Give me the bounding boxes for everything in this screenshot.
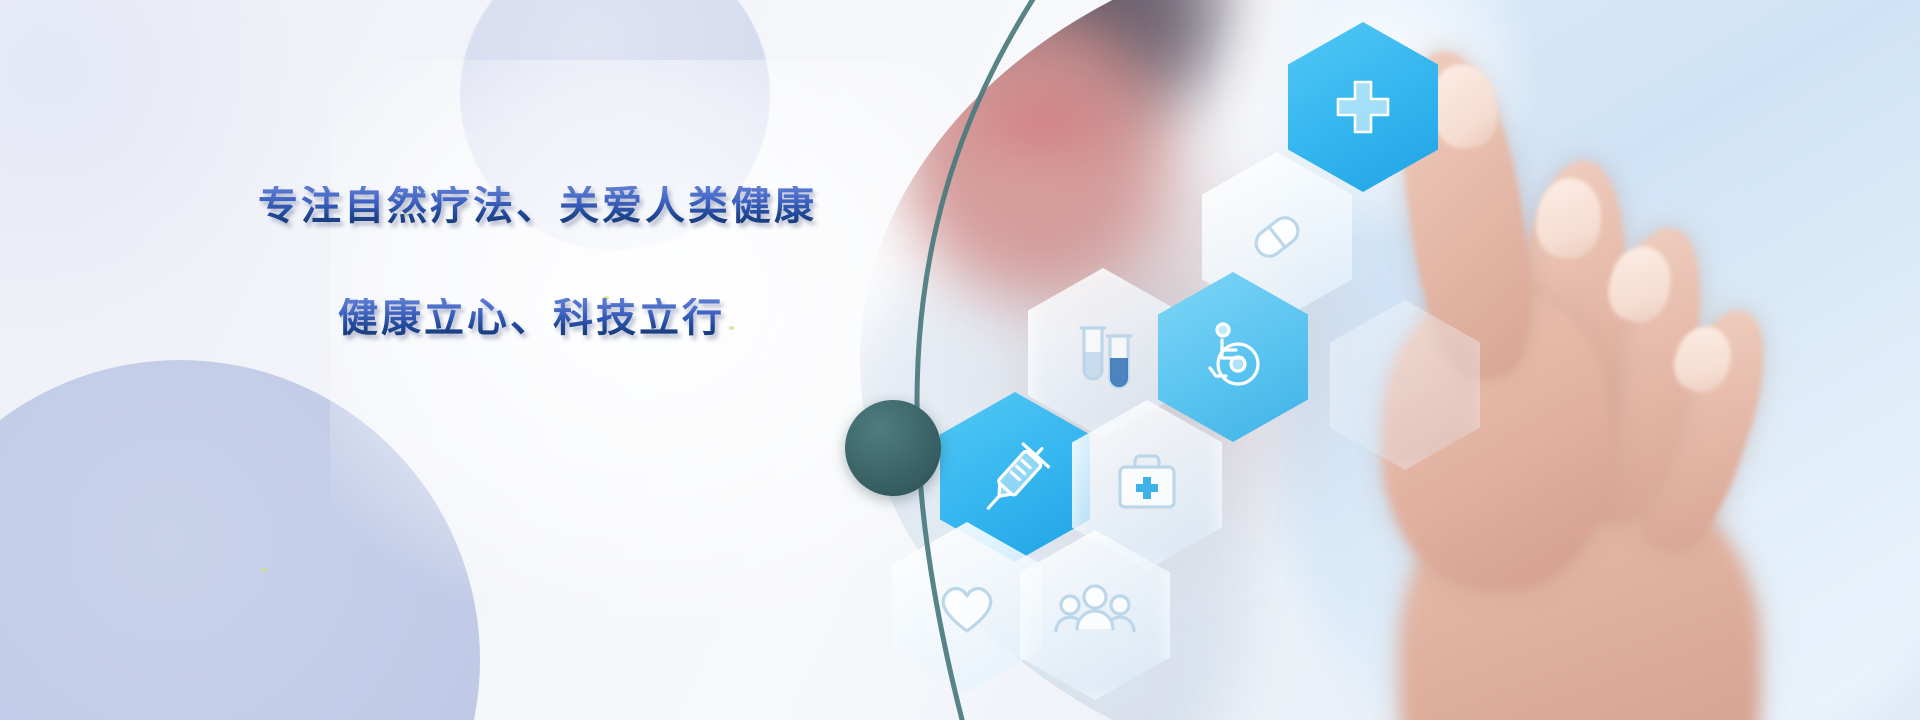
medical-cross-icon (1328, 72, 1398, 142)
headline-block: 专注自然疗法、关爱人类健康 健康立心、科技立行 (258, 186, 878, 338)
medical-cross-hexagon (1288, 22, 1438, 192)
bokeh-speck (262, 568, 267, 572)
teal-arc-divider (820, 0, 1080, 720)
health-clinic-hero-banner: 专注自然疗法、关爱人类健康 健康立心、科技立行 (0, 0, 1920, 720)
medical-bag-icon (1107, 445, 1187, 525)
blank-hexagon (1330, 300, 1480, 470)
headline-primary: 专注自然疗法、关爱人类健康 (258, 186, 878, 226)
teal-arc-node (845, 400, 941, 496)
pill-capsule-icon (1238, 198, 1316, 276)
headline-secondary: 健康立心、科技立行 (338, 298, 878, 338)
wheelchair-icon (1192, 316, 1274, 398)
